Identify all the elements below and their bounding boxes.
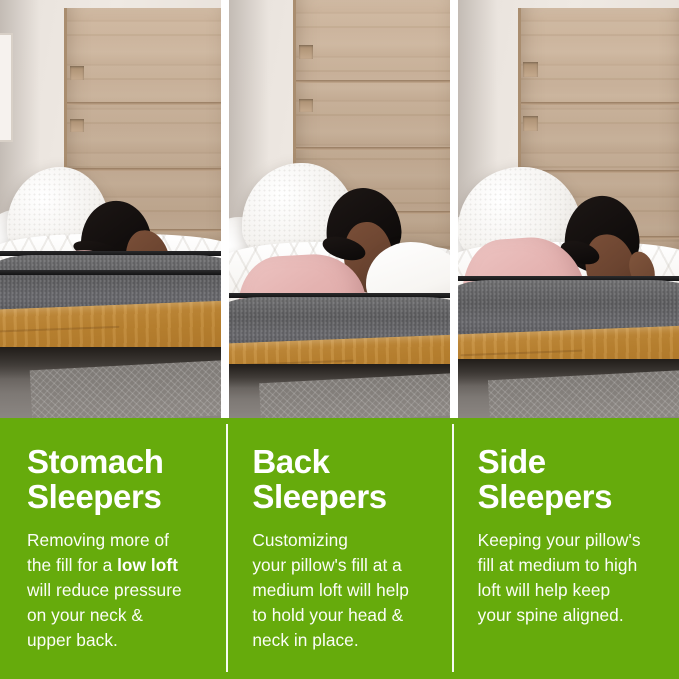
card-body-stomach-emphasis: low loft [117,555,178,575]
wall-art-frame [0,33,13,142]
card-divider-1 [226,424,228,672]
floor [229,364,450,418]
floor [458,359,679,418]
card-back-sleepers: Back Sleepers Customizing your pillow's … [228,418,453,679]
sleep-position-infographic: Stomach Sleepers Removing more of the fi… [0,0,679,679]
green-info-panel: Stomach Sleepers Removing more of the fi… [0,418,679,679]
photo-back-sleeper [229,0,450,418]
card-list: Stomach Sleepers Removing more of the fi… [0,418,679,679]
mattress-piping-lower [0,270,221,275]
card-stomach-sleepers: Stomach Sleepers Removing more of the fi… [0,418,228,679]
card-heading-back: Back Sleepers [252,445,431,515]
photo-side-sleeper [458,0,679,418]
card-body-back-before: Customizing your pillow's fill at a medi… [252,530,409,650]
carpet [30,360,221,418]
card-body-back: Customizing your pillow's fill at a medi… [252,528,431,653]
card-body-stomach-after: will reduce pressure on your neck & uppe… [27,580,182,650]
photo-stomach-sleeper [0,0,221,418]
card-body-side-before: Keeping your pillow's fill at medium to … [478,530,641,625]
card-divider-2 [452,424,454,672]
floor [0,347,221,418]
card-body-stomach: Removing more of the fill for a low loft… [27,528,206,653]
card-body-side: Keeping your pillow's fill at medium to … [478,528,657,628]
card-heading-side: Side Sleepers [478,445,657,515]
card-side-sleepers: Side Sleepers Keeping your pillow's fill… [454,418,679,679]
card-heading-stomach: Stomach Sleepers [27,445,206,515]
photo-strip [0,0,679,418]
